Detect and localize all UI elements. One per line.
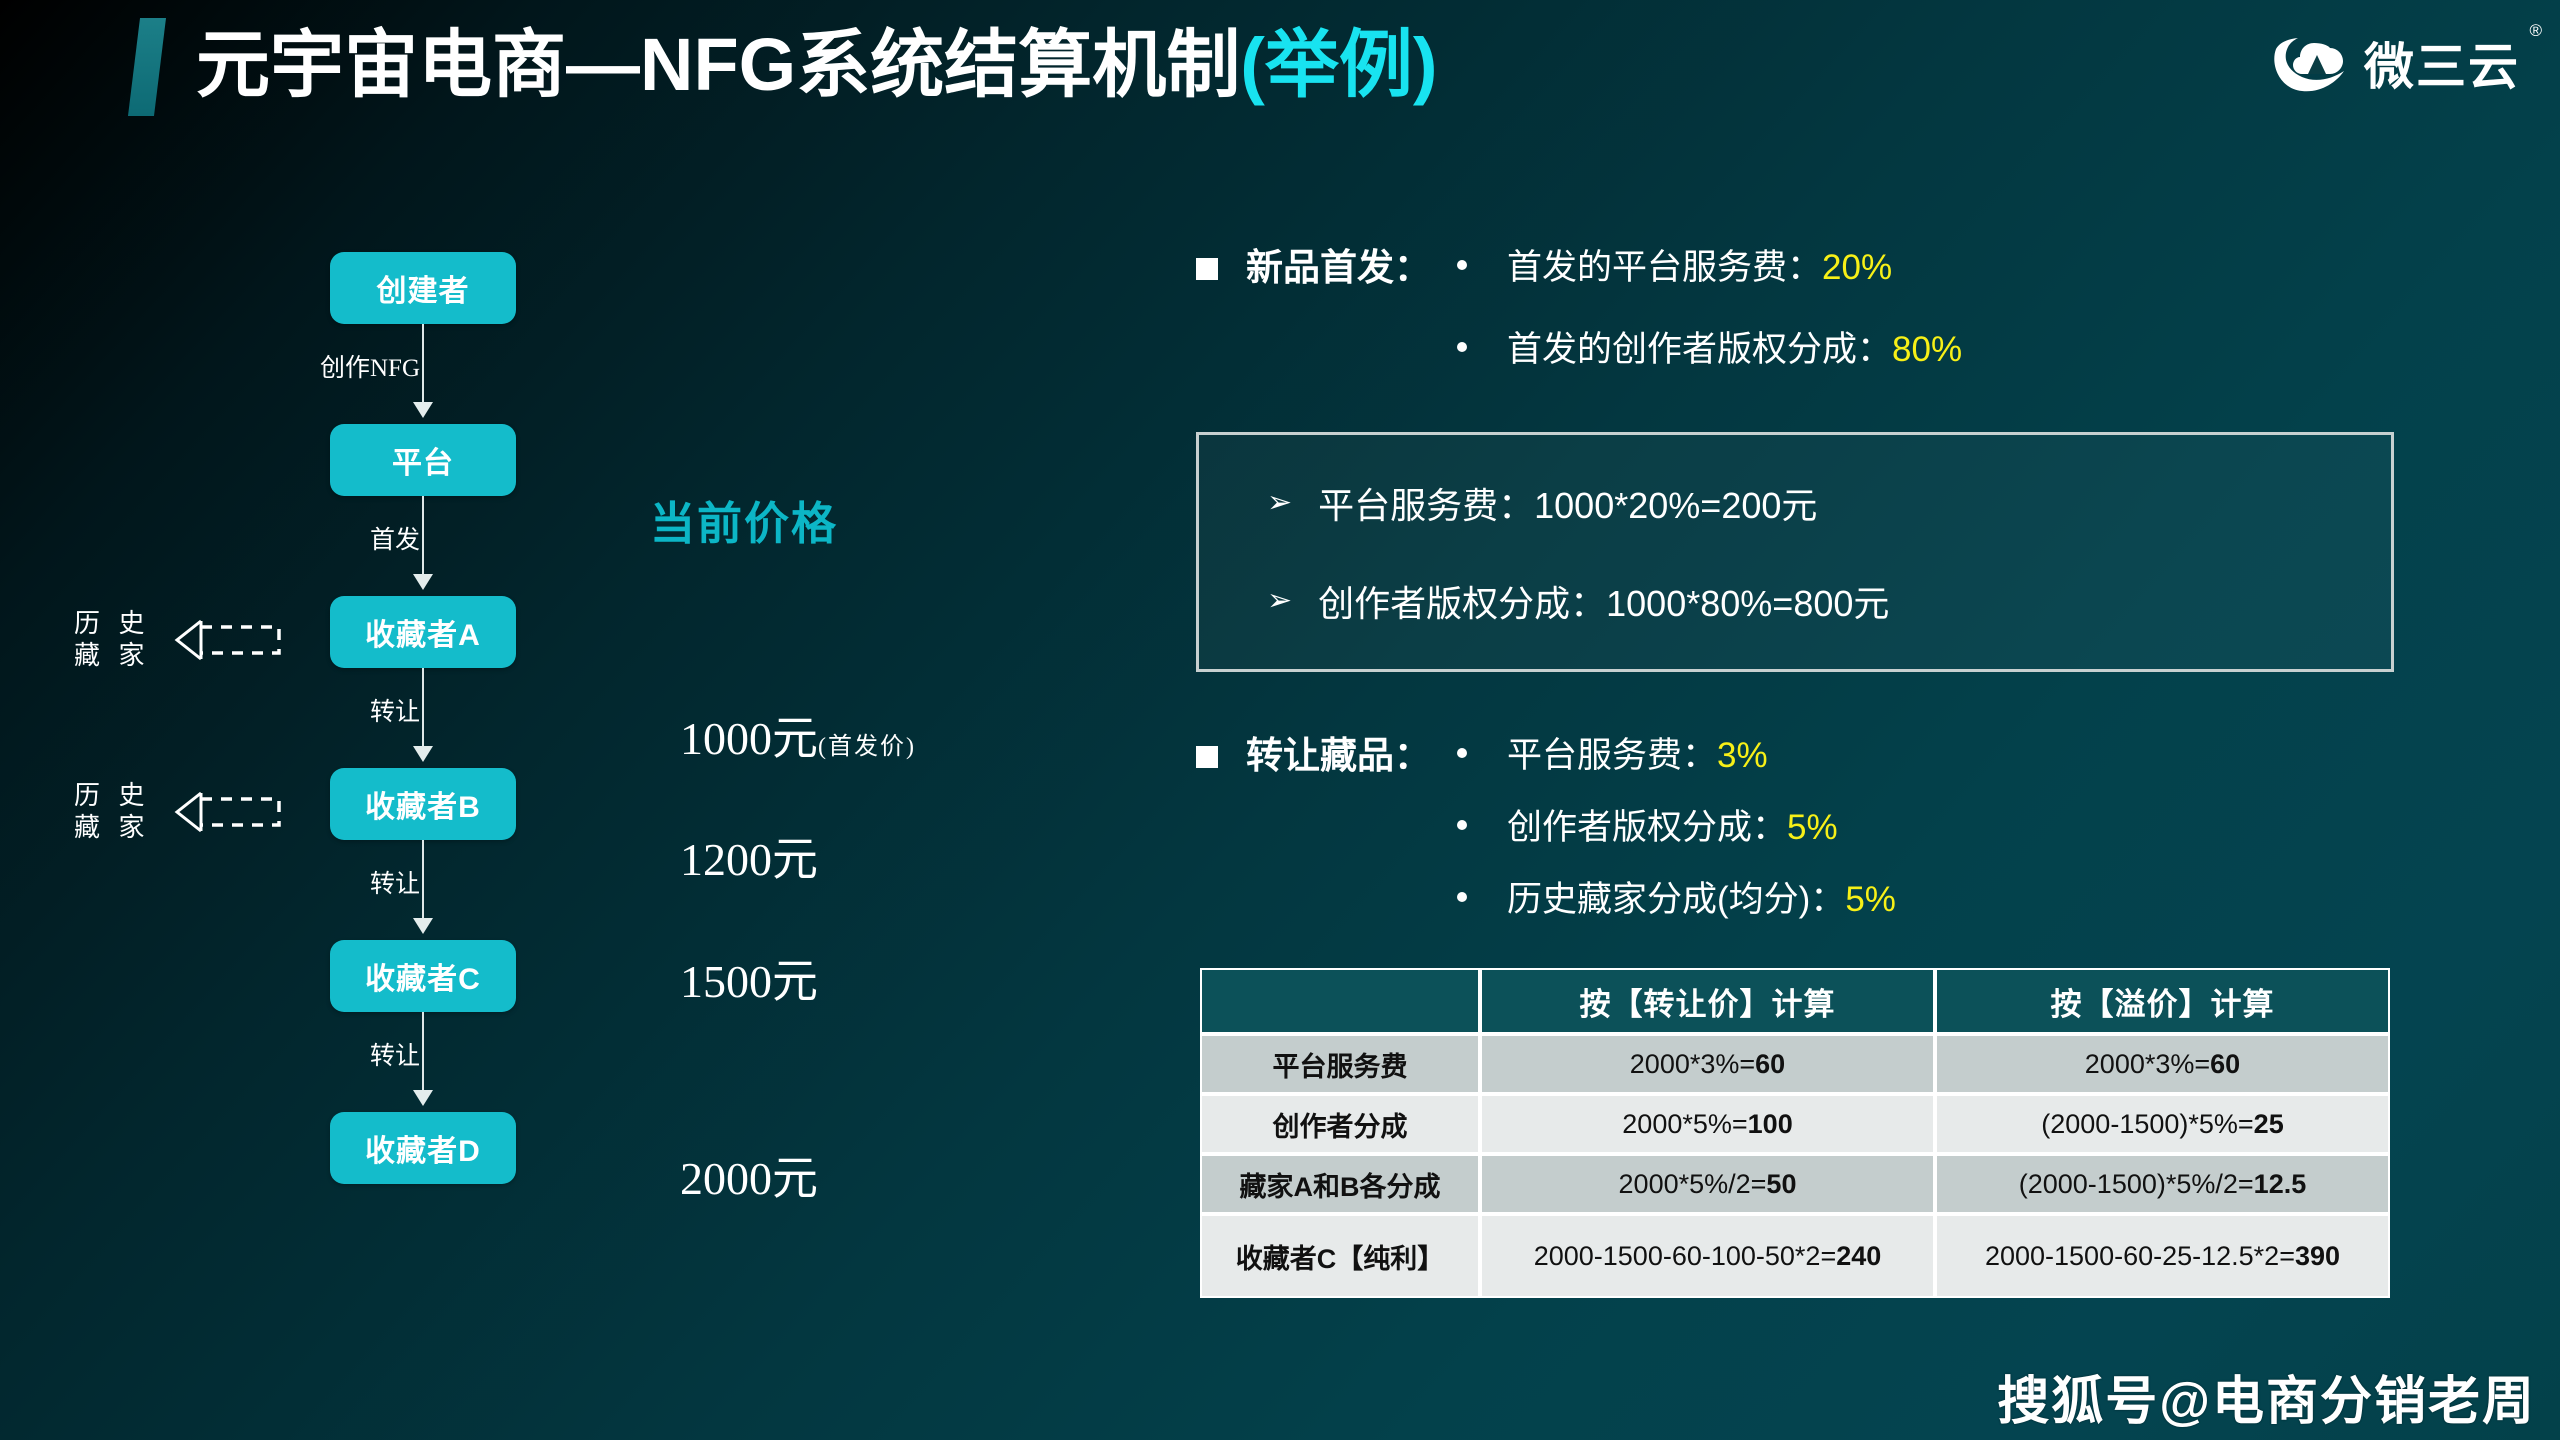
list-item: 首发的平台服务费：20% — [1457, 240, 1962, 296]
table-row: 收藏者C【纯利】 2000-1500-60-100-50*2=240 2000-… — [1200, 1214, 2390, 1298]
chevron-right-icon: ➢ — [1267, 586, 1292, 616]
flow-node-creator[interactable]: 创建者 — [330, 252, 516, 324]
settlement-comparison-table: 按【转让价】计算 按【溢价】计算 平台服务费 2000*3%=60 2000*3… — [1200, 968, 2390, 1298]
price-unit-c: 元 — [772, 956, 818, 1007]
section-transfer-items: 平台服务费：3% 创作者版权分成：5% 历史藏家分成(均分)：5% — [1457, 728, 1896, 928]
list-item-value: 3% — [1717, 728, 1768, 784]
dot-bullet-icon — [1457, 342, 1467, 352]
cell-result: 50 — [1766, 1169, 1796, 1199]
cell-result: 60 — [1755, 1049, 1785, 1079]
list-item-label: 创作者版权分成： — [1507, 800, 1787, 856]
history-collector-group-b: 历 史 藏 家 — [74, 780, 287, 844]
table-cell-premium: 2000-1500-60-25-12.5*2=390 — [1935, 1214, 2390, 1298]
section-new-launch-title: 新品首发： — [1246, 240, 1431, 296]
dashed-arrow-icon-b — [167, 785, 287, 839]
list-item-value: 80% — [1892, 322, 1962, 378]
table-cell-premium: (2000-1500)*5%=25 — [1935, 1094, 2390, 1154]
flow-label-first-release: 首发 — [370, 520, 420, 556]
dot-bullet-icon — [1457, 748, 1467, 758]
brand-logo: 微三云® — [2268, 24, 2520, 102]
current-price-title: 当前价格 — [650, 487, 838, 552]
table-header-premium: 按【溢价】计算 — [1935, 968, 2390, 1034]
flow-node-collector-c[interactable]: 收藏者C — [330, 940, 516, 1012]
page-title-main: 元宇宙电商—NFG系统结算机制 — [196, 23, 1240, 106]
cell-result: 240 — [1836, 1241, 1881, 1271]
flow-arrowhead-1 — [413, 402, 433, 418]
history-collector-label-b: 历 史 藏 家 — [74, 780, 151, 844]
dot-bullet-icon — [1457, 260, 1467, 270]
table-row: 创作者分成 2000*5%=100 (2000-1500)*5%=25 — [1200, 1094, 2390, 1154]
cell-expression: 2000*5%/2= — [1619, 1169, 1767, 1199]
dot-bullet-icon — [1457, 892, 1467, 902]
page-title-highlight: (举例) — [1240, 23, 1437, 106]
price-unit-a: 元 — [772, 713, 818, 764]
cell-expression: 2000-1500-60-25-12.5*2= — [1985, 1241, 2295, 1271]
section-transfer-head: 转让藏品： 平台服务费：3% 创作者版权分成：5% 历史藏家分成(均分)：5% — [1196, 728, 2526, 928]
section-new-launch-items: 首发的平台服务费：20% 首发的创作者版权分成：80% — [1457, 240, 1962, 378]
list-item-label: 历史藏家分成(均分)： — [1507, 872, 1845, 928]
table-cell-label: 藏家A和B各分成 — [1200, 1154, 1480, 1214]
slide-header: 元宇宙电商—NFG系统结算机制(举例) 微三云® — [0, 0, 2560, 150]
flow-node-platform[interactable]: 平台 — [330, 424, 516, 496]
table-cell-premium: 2000*3%=60 — [1935, 1034, 2390, 1094]
flow-arrowhead-5 — [413, 1090, 433, 1106]
list-item: 平台服务费：3% — [1457, 728, 1896, 784]
price-unit-d: 元 — [772, 1153, 818, 1204]
flow-label-create-nfg: 创作NFG — [320, 348, 420, 384]
table-cell-transfer: 2000*3%=60 — [1480, 1034, 1935, 1094]
flow-label-transfer-3: 转让 — [370, 1036, 420, 1072]
cell-result: 390 — [2295, 1241, 2340, 1271]
cell-expression: 2000-1500-60-100-50*2= — [1534, 1241, 1837, 1271]
list-item-value: 5% — [1787, 800, 1838, 856]
cell-result: 100 — [1748, 1109, 1793, 1139]
price-amount-a: 1000 — [680, 713, 772, 764]
slide-root: 元宇宙电商—NFG系统结算机制(举例) 微三云® 创建者 创作NFG 平台 首发… — [0, 0, 2560, 1440]
price-value-d: 2000元 — [680, 1142, 818, 1208]
cell-expression: 2000*3%= — [1630, 1049, 1755, 1079]
price-unit-b: 元 — [772, 834, 818, 885]
price-value-b: 1200元 — [680, 823, 818, 889]
list-item-label: 首发的平台服务费： — [1507, 240, 1822, 296]
first-release-calculation-box: ➢ 平台服务费：1000*20%=200元 ➢ 创作者版权分成：1000*80%… — [1196, 432, 2394, 672]
flow-label-transfer-2: 转让 — [370, 864, 420, 900]
logo-text: 微三云® — [2364, 27, 2520, 99]
history-label-line1-b: 历 史 — [74, 781, 151, 810]
price-amount-d: 2000 — [680, 1153, 772, 1204]
dot-bullet-icon — [1457, 820, 1467, 830]
history-label-line1: 历 史 — [74, 609, 151, 638]
calc-line-text: 平台服务费：1000*20%=200元 — [1318, 477, 1817, 529]
table-cell-label: 创作者分成 — [1200, 1094, 1480, 1154]
table-cell-premium: (2000-1500)*5%/2=12.5 — [1935, 1154, 2390, 1214]
flow-arrowhead-4 — [413, 918, 433, 934]
flow-node-collector-a[interactable]: 收藏者A — [330, 596, 516, 668]
table-header-transfer-price: 按【转让价】计算 — [1480, 968, 1935, 1034]
square-bullet-icon — [1196, 746, 1218, 768]
list-item-value: 20% — [1822, 240, 1892, 296]
section-transfer: 转让藏品： 平台服务费：3% 创作者版权分成：5% 历史藏家分成(均分)：5% — [1196, 728, 2526, 928]
chevron-right-icon: ➢ — [1267, 488, 1292, 518]
cell-result: 25 — [2254, 1109, 2284, 1139]
title-accent-bar — [128, 18, 166, 116]
flow-label-transfer-1: 转让 — [370, 692, 420, 728]
table-row: 藏家A和B各分成 2000*5%/2=50 (2000-1500)*5%/2=1… — [1200, 1154, 2390, 1214]
cloud-swoosh-logo-icon — [2268, 31, 2352, 95]
history-collector-label-a: 历 史 藏 家 — [74, 608, 151, 672]
cell-expression: (2000-1500)*5%/2= — [2019, 1169, 2254, 1199]
watermark: 搜狐号@电商分销老周 — [1997, 1359, 2536, 1434]
registered-mark-icon: ® — [2529, 21, 2544, 41]
list-item-label: 首发的创作者版权分成： — [1507, 322, 1892, 378]
price-amount-c: 1500 — [680, 956, 772, 1007]
table-cell-transfer: 2000*5%=100 — [1480, 1094, 1935, 1154]
list-item: 创作者版权分成：5% — [1457, 800, 1896, 856]
table-cell-label: 收藏者C【纯利】 — [1200, 1214, 1480, 1298]
list-item: 首发的创作者版权分成：80% — [1457, 322, 1962, 378]
square-bullet-icon — [1196, 258, 1218, 280]
table-row: 平台服务费 2000*3%=60 2000*3%=60 — [1200, 1034, 2390, 1094]
calc-line-creator-share: ➢ 创作者版权分成：1000*80%=800元 — [1267, 575, 1889, 627]
page-title: 元宇宙电商—NFG系统结算机制(举例) — [196, 6, 1438, 124]
history-collector-group-a: 历 史 藏 家 — [74, 608, 287, 672]
cell-expression: 2000*3%= — [2085, 1049, 2210, 1079]
flow-node-collector-d[interactable]: 收藏者D — [330, 1112, 516, 1184]
cell-result: 60 — [2210, 1049, 2240, 1079]
section-new-launch-head: 新品首发： 首发的平台服务费：20% 首发的创作者版权分成：80% — [1196, 240, 2526, 378]
logo-brand-name: 微三云 — [2364, 39, 2520, 95]
price-value-a: 1000元(首发价) — [680, 702, 916, 768]
list-item: 历史藏家分成(均分)：5% — [1457, 872, 1896, 928]
cell-expression: (2000-1500)*5%= — [2041, 1109, 2253, 1139]
flow-arrowhead-3 — [413, 746, 433, 762]
history-label-line2: 藏 家 — [74, 641, 151, 670]
flow-node-collector-b[interactable]: 收藏者B — [330, 768, 516, 840]
price-note-a: (首发价) — [818, 734, 916, 760]
cell-expression: 2000*5%= — [1622, 1109, 1747, 1139]
calc-line-platform-fee: ➢ 平台服务费：1000*20%=200元 — [1267, 477, 1817, 529]
flow-arrowhead-2 — [413, 574, 433, 590]
table-header-row: 按【转让价】计算 按【溢价】计算 — [1200, 968, 2390, 1034]
table-cell-label: 平台服务费 — [1200, 1034, 1480, 1094]
table-cell-transfer: 2000*5%/2=50 — [1480, 1154, 1935, 1214]
history-label-line2-b: 藏 家 — [74, 813, 151, 842]
dashed-arrow-icon-a — [167, 613, 287, 667]
list-item-value: 5% — [1845, 872, 1896, 928]
calc-line-text: 创作者版权分成：1000*80%=800元 — [1318, 575, 1889, 627]
cell-result: 12.5 — [2254, 1169, 2307, 1199]
list-item-label: 平台服务费： — [1507, 728, 1717, 784]
price-value-c: 1500元 — [680, 945, 818, 1011]
table-header-blank — [1200, 968, 1480, 1034]
table-cell-transfer: 2000-1500-60-100-50*2=240 — [1480, 1214, 1935, 1298]
section-new-launch: 新品首发： 首发的平台服务费：20% 首发的创作者版权分成：80% — [1196, 240, 2526, 378]
section-transfer-title: 转让藏品： — [1246, 728, 1431, 784]
price-amount-b: 1200 — [680, 834, 772, 885]
